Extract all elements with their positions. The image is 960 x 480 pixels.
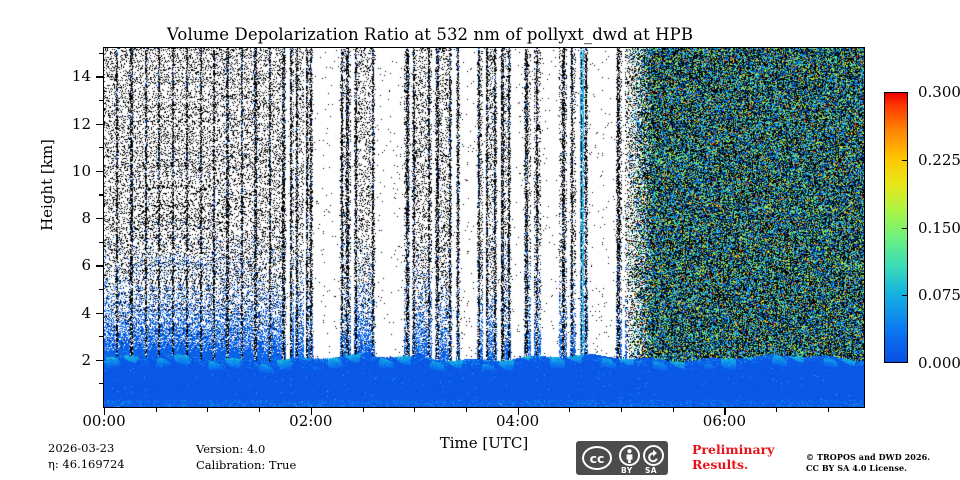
preliminary-line-1: Preliminary xyxy=(692,443,774,458)
x-minor-tick xyxy=(776,408,777,412)
footer-eta: η: 46.169724 xyxy=(48,457,125,471)
creative-commons-badge: cc BY SA xyxy=(576,441,668,475)
x-minor-tick xyxy=(828,408,829,412)
cc-sa-text: SA xyxy=(645,466,657,475)
x-minor-tick xyxy=(466,408,467,412)
chart-title: Volume Depolarization Ratio at 532 nm of… xyxy=(0,25,860,44)
preliminary-results-notice: Preliminary Results. xyxy=(692,443,774,472)
x-minor-tick xyxy=(156,408,157,412)
y-tick-mark xyxy=(96,313,103,314)
y-tick-label: 8 xyxy=(31,209,91,227)
y-tick-label: 2 xyxy=(31,351,91,369)
colorbar-tick-label: 0.150 xyxy=(918,219,960,237)
colorbar-tick-mark xyxy=(902,295,908,296)
x-tick-mark xyxy=(518,408,519,415)
y-minor-tick xyxy=(99,100,103,101)
colorbar-tick-label: 0.300 xyxy=(918,83,960,101)
y-tick-mark xyxy=(96,360,103,361)
y-minor-tick xyxy=(99,336,103,337)
y-minor-tick xyxy=(99,242,103,243)
y-tick-label: 10 xyxy=(31,162,91,180)
y-tick-label: 14 xyxy=(31,67,91,85)
footer-date: 2026-03-23 xyxy=(48,441,114,455)
x-tick-mark xyxy=(104,408,105,415)
preliminary-line-2: Results. xyxy=(692,458,774,473)
x-minor-tick xyxy=(621,408,622,412)
copyright-line-1: © TROPOS and DWD 2026. xyxy=(806,452,930,462)
y-minor-tick xyxy=(99,289,103,290)
colorbar-tick-label: 0.225 xyxy=(918,151,960,169)
y-tick-mark xyxy=(96,76,103,77)
y-tick-mark xyxy=(96,124,103,125)
colorbar-tick-mark xyxy=(902,228,908,229)
colorbar-tick-label: 0.075 xyxy=(918,286,960,304)
plot-area xyxy=(103,47,865,408)
y-minor-tick xyxy=(99,147,103,148)
footer-calibration: Calibration: True xyxy=(196,458,296,472)
y-tick-label: 12 xyxy=(31,115,91,133)
x-tick-mark xyxy=(311,408,312,415)
x-minor-tick xyxy=(414,408,415,412)
colorbar-tick-mark xyxy=(902,160,908,161)
y-minor-tick xyxy=(99,383,103,384)
y-minor-tick xyxy=(99,194,103,195)
cc-label: cc xyxy=(582,446,612,470)
copyright-line-2: CC BY SA 4.0 License. xyxy=(806,463,907,473)
cc-by-person-icon xyxy=(619,445,640,466)
y-tick-mark xyxy=(96,265,103,266)
x-minor-tick xyxy=(569,408,570,412)
y-tick-label: 6 xyxy=(31,256,91,274)
y-minor-tick xyxy=(99,53,103,54)
y-tick-mark xyxy=(96,218,103,219)
footer-version: Version: 4.0 xyxy=(196,442,265,456)
x-tick-mark xyxy=(724,408,725,415)
x-minor-tick xyxy=(363,408,364,412)
colorbar-tick-label: 0.000 xyxy=(918,354,960,372)
x-minor-tick xyxy=(673,408,674,412)
cc-by-text: BY xyxy=(621,466,633,475)
cc-sa-share-icon xyxy=(643,445,664,466)
heatmap-canvas xyxy=(104,48,864,407)
y-tick-label: 4 xyxy=(31,304,91,322)
x-minor-tick xyxy=(207,408,208,412)
y-tick-mark xyxy=(96,171,103,172)
x-minor-tick xyxy=(259,408,260,412)
